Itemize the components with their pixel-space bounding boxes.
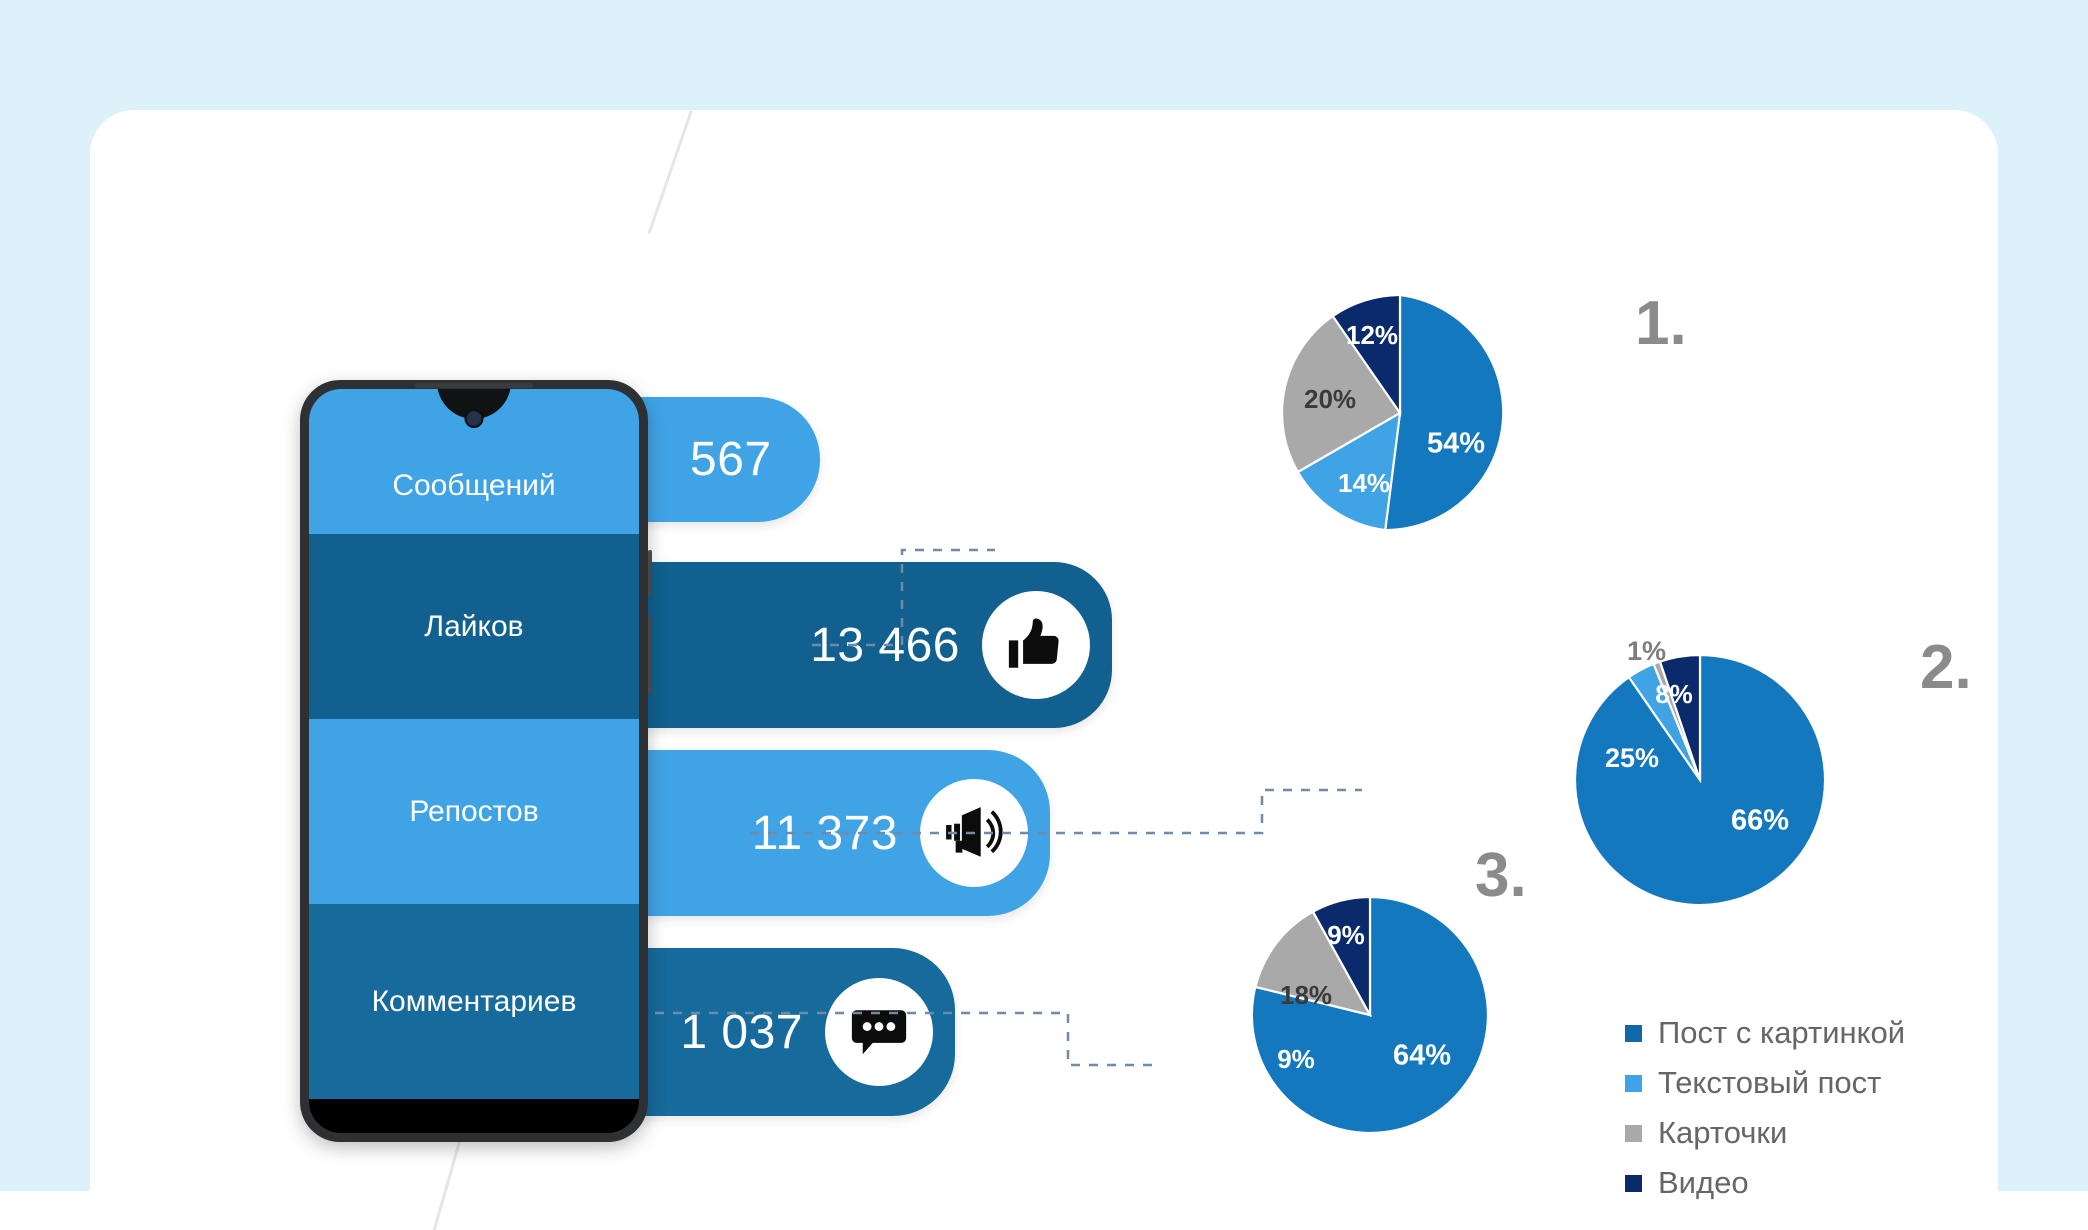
screen-label-messages: Сообщений xyxy=(392,421,555,503)
pie3-label-9-text: 9% xyxy=(1277,1044,1315,1074)
phone-screen: Сообщений Лайков Репостов Комментариев xyxy=(309,389,639,1133)
pie2-label-8: 8% xyxy=(1655,679,1693,709)
pie3-label-18: 18% xyxy=(1280,980,1332,1010)
legend-label-video: Видео xyxy=(1658,1165,1749,1201)
phone-camera-icon xyxy=(465,409,484,428)
pie1-label-20: 20% xyxy=(1304,384,1356,414)
bar-value-reposts: 11 373 xyxy=(752,806,898,861)
legend-item-post-image: Пост с картинкой xyxy=(1625,1015,1905,1051)
pie-2-slices xyxy=(1575,655,1825,905)
pie1-label-54: 54% xyxy=(1427,428,1485,460)
pie3-label-9-video: 9% xyxy=(1327,920,1365,950)
legend-swatch-text-post xyxy=(1625,1075,1642,1092)
legend-item-cards: Карточки xyxy=(1625,1115,1905,1151)
screen-row-reposts: Репостов xyxy=(309,719,639,904)
pie-chart-3: 64% 9% 18% 9% xyxy=(1245,890,1495,1140)
pie1-label-12: 12% xyxy=(1346,320,1398,350)
pie3-label-64: 64% xyxy=(1393,1040,1451,1072)
screen-label-comments: Комментариев xyxy=(372,985,577,1019)
pie1-label-14: 14% xyxy=(1338,468,1390,498)
pie2-label-25: 25% xyxy=(1605,743,1659,773)
legend-item-text-post: Текстовый пост xyxy=(1625,1065,1905,1101)
thumbs-up-icon xyxy=(982,591,1090,699)
screen-row-comments: Комментариев xyxy=(309,904,639,1099)
pie-number-2: 2. xyxy=(1920,632,1972,703)
phone-button-power xyxy=(648,616,652,694)
screen-label-reposts: Репостов xyxy=(409,795,538,829)
bar-value-comments: 1 037 xyxy=(680,1005,803,1060)
legend-item-video: Видео xyxy=(1625,1165,1905,1201)
pie-3-slices xyxy=(1252,897,1488,1133)
white-content-card: 567 13 466 11 373 xyxy=(90,110,1998,1230)
bar-value-likes: 13 466 xyxy=(810,618,960,673)
pie-chart-2: 66% 25% 8% xyxy=(1570,650,1830,910)
pie1-slice-post-image xyxy=(1385,295,1503,530)
megaphone-icon xyxy=(920,779,1028,887)
phone-button-volume xyxy=(648,550,652,596)
legend-swatch-cards xyxy=(1625,1125,1642,1142)
pie-chart-1: 54% 14% 20% 12% xyxy=(1275,288,1525,538)
legend-label-text-post: Текстовый пост xyxy=(1658,1065,1881,1101)
legend-swatch-video xyxy=(1625,1175,1642,1192)
phone-speaker-grille xyxy=(415,383,533,388)
pie-number-3: 3. xyxy=(1475,840,1527,911)
decorative-hairline-top xyxy=(648,110,693,234)
chart-legend: Пост с картинкой Текстовый пост Карточки… xyxy=(1625,1015,1905,1215)
phone-mockup: Сообщений Лайков Репостов Комментариев xyxy=(300,380,648,1142)
legend-label-post-image: Пост с картинкой xyxy=(1658,1015,1905,1051)
pie2-label-66: 66% xyxy=(1731,805,1789,837)
pie2-label-1-outside: 1% xyxy=(1627,636,1666,667)
bar-value-messages: 567 xyxy=(690,432,772,487)
screen-label-likes: Лайков xyxy=(424,610,523,644)
screen-row-likes: Лайков xyxy=(309,534,639,719)
comment-icon xyxy=(825,978,933,1086)
infographic-canvas: 567 13 466 11 373 xyxy=(0,0,2088,1191)
legend-swatch-post-image xyxy=(1625,1025,1642,1042)
legend-label-cards: Карточки xyxy=(1658,1115,1787,1151)
pie-number-1: 1. xyxy=(1635,288,1687,359)
